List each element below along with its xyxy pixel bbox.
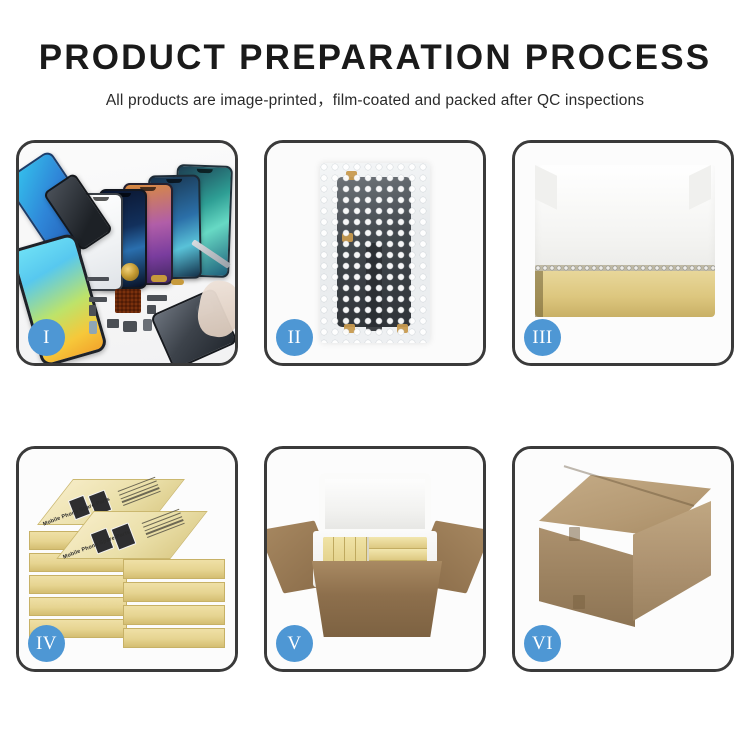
packed-box-row-2 — [369, 549, 427, 561]
part-bracket-icon — [89, 297, 107, 302]
circuit-board-icon — [115, 289, 141, 313]
step-badge-4: IV — [28, 625, 65, 662]
process-step-panel-4: Mobile Phone Spare Parts Mobile Phone Sp… — [16, 446, 238, 672]
process-step-panel-5: V — [264, 446, 486, 672]
box-tray-shadow — [535, 271, 543, 317]
carton-body-icon — [303, 561, 451, 637]
bubble-bag-icon — [320, 163, 430, 343]
part-gold-clip-icon — [171, 279, 184, 285]
part-gold-connector-icon — [151, 275, 167, 282]
box-edge-l4 — [29, 597, 127, 616]
process-step-panel-3: III — [512, 140, 734, 366]
process-steps-grid: I II — [16, 140, 734, 672]
part-sim-tray-icon — [89, 321, 97, 334]
step-badge-3: III — [524, 319, 561, 356]
part-speaker-icon — [107, 319, 119, 328]
part-button-icon — [143, 319, 152, 331]
process-step-panel-6: VI — [512, 446, 734, 672]
part-strip-icon — [87, 277, 109, 281]
part-flex-icon — [147, 295, 167, 301]
box-edge-r4 — [123, 628, 225, 648]
part-small-block-icon — [89, 305, 96, 316]
box-tray-icon — [535, 271, 715, 317]
carton-tape-upper — [569, 527, 580, 541]
step-badge-2: II — [276, 319, 313, 356]
page-title: PRODUCT PREPARATION PROCESS — [0, 40, 750, 77]
box-edge-r2 — [123, 582, 225, 602]
step-badge-1: I — [28, 319, 65, 356]
foam-lid-icon — [319, 473, 431, 535]
box-edge-r3 — [123, 605, 225, 625]
carton-front-face — [539, 519, 635, 627]
part-module-icon — [123, 321, 137, 332]
bubble-texture — [320, 163, 430, 343]
step-badge-6: VI — [524, 625, 561, 662]
page-header: PRODUCT PREPARATION PROCESS All products… — [0, 0, 750, 110]
process-step-panel-2: II — [264, 140, 486, 366]
product-preparation-process-page: PRODUCT PREPARATION PROCESS All products… — [0, 0, 750, 750]
process-step-panel-1: I — [16, 140, 238, 366]
box-stack: Mobile Phone Spare Parts Mobile Phone Sp… — [29, 473, 229, 651]
page-subtitle: All products are image-printed，film-coat… — [0, 88, 750, 110]
carton-tape-lower — [573, 595, 585, 609]
box-edge-r1 — [123, 559, 225, 579]
camera-ring-icon — [121, 263, 139, 281]
step-badge-5: V — [276, 625, 313, 662]
box-edge-l3 — [29, 575, 127, 594]
packed-box-row-1 — [369, 537, 427, 549]
